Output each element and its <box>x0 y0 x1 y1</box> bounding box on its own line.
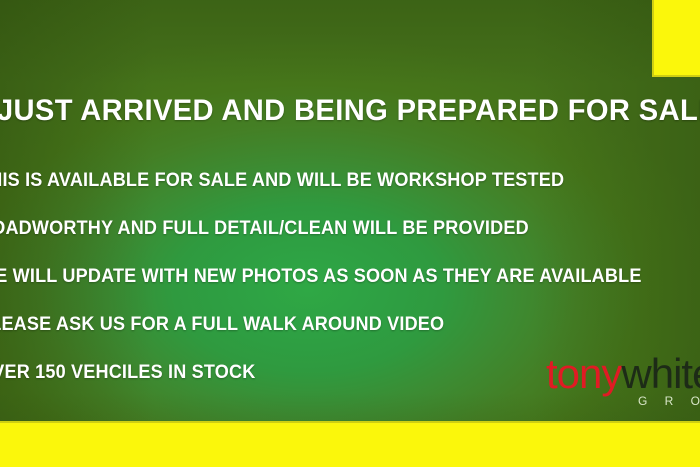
promotional-banner: JUST ARRIVED AND BEING PREPARED FOR SALE… <box>0 0 700 467</box>
banner-message-line: THIS IS AVAILABLE FOR SALE AND WILL BE W… <box>0 168 643 216</box>
logo-wordmark: tonywhite <box>546 352 700 396</box>
yellow-accent-bottom-bar <box>0 421 700 467</box>
banner-headline: JUST ARRIVED AND BEING PREPARED FOR SALE <box>0 94 700 128</box>
banner-message-line: WE WILL UPDATE WITH NEW PHOTOS AS SOON A… <box>0 264 643 312</box>
dealer-logo: tonywhite G R O U P <box>546 352 700 418</box>
banner-message-line: ROADWORTHY AND FULL DETAIL/CLEAN WILL BE… <box>0 216 643 264</box>
logo-tagline: G R O U P <box>638 394 700 408</box>
yellow-accent-top-right <box>652 0 700 77</box>
logo-wordmark-primary: tony <box>546 352 621 397</box>
logo-wordmark-secondary: white <box>621 352 700 397</box>
